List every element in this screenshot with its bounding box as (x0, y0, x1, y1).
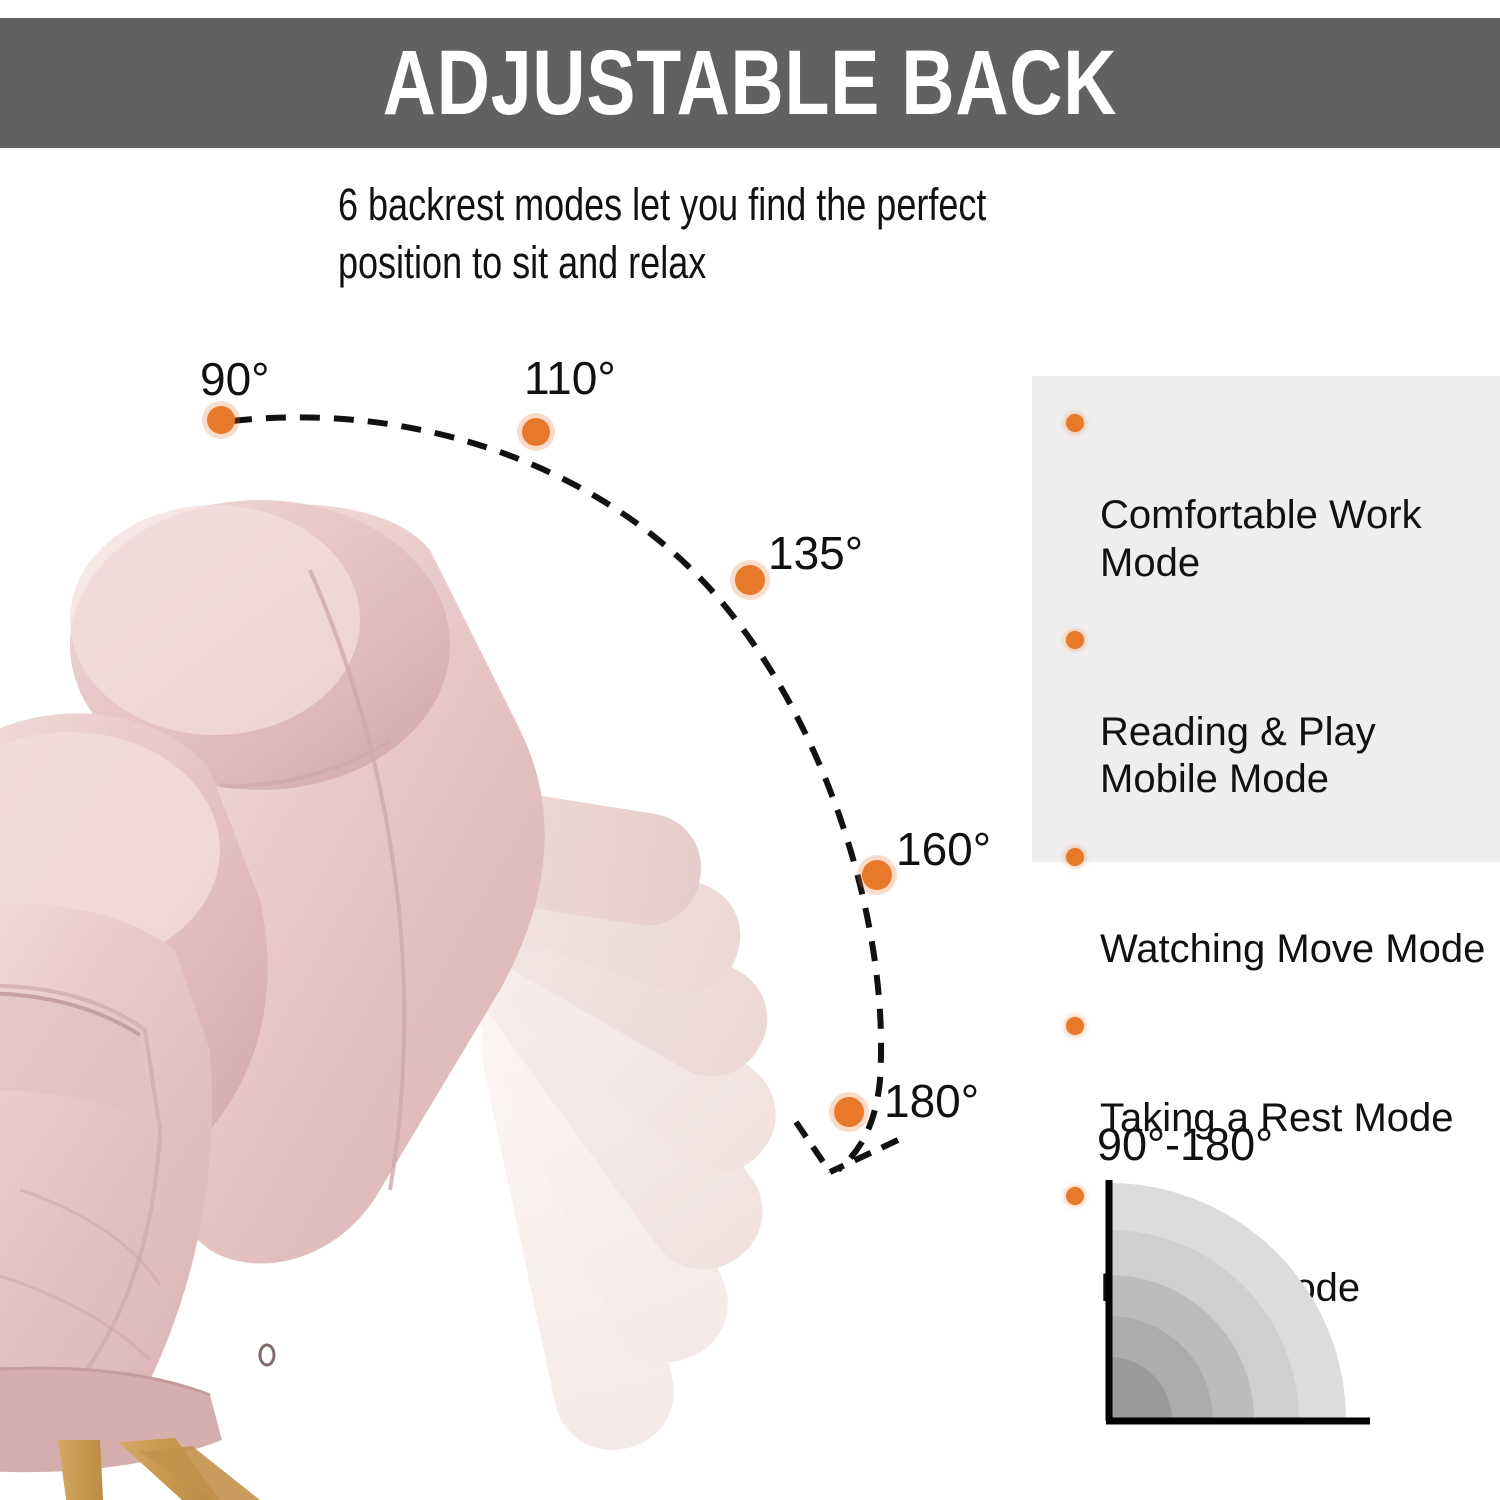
chair-legs (58, 1438, 260, 1500)
mode-label: Comfortable Work Mode (1100, 493, 1422, 584)
bullet-icon (1066, 1187, 1084, 1205)
bullet-icon (1066, 414, 1084, 432)
mode-label: Reading & Play Mobile Mode (1100, 710, 1376, 801)
bullet-icon (1066, 631, 1084, 649)
list-item: Watching Move Mode (1058, 832, 1498, 974)
list-item: Comfortable Work Mode (1058, 398, 1498, 587)
angle-dot-180[interactable] (834, 1097, 864, 1127)
seat-and-armrest (0, 713, 268, 1472)
range-diagram (1085, 1120, 1415, 1450)
mode-label: Watching Move Mode (1100, 927, 1485, 971)
angle-label-180: 180° (884, 1078, 979, 1124)
angle-label-110: 110° (524, 355, 616, 401)
page-title: ADJUSTABLE BACK (150, 18, 1350, 148)
angle-label-90: 90° (200, 356, 270, 402)
infographic-canvas: ADJUSTABLE BACK 6 backrest modes let you… (0, 0, 1500, 1500)
bullet-icon (1066, 1017, 1084, 1035)
product-image-reclining-chair (0, 430, 790, 1500)
angle-dot-160[interactable] (862, 860, 892, 890)
angle-label-160: 160° (896, 826, 991, 872)
subtitle-text: 6 backrest modes let you find the perfec… (338, 176, 1058, 291)
list-item: Reading & Play Mobile Mode (1058, 615, 1498, 804)
bullet-icon (1066, 848, 1084, 866)
angle-label-135: 135° (768, 530, 863, 576)
